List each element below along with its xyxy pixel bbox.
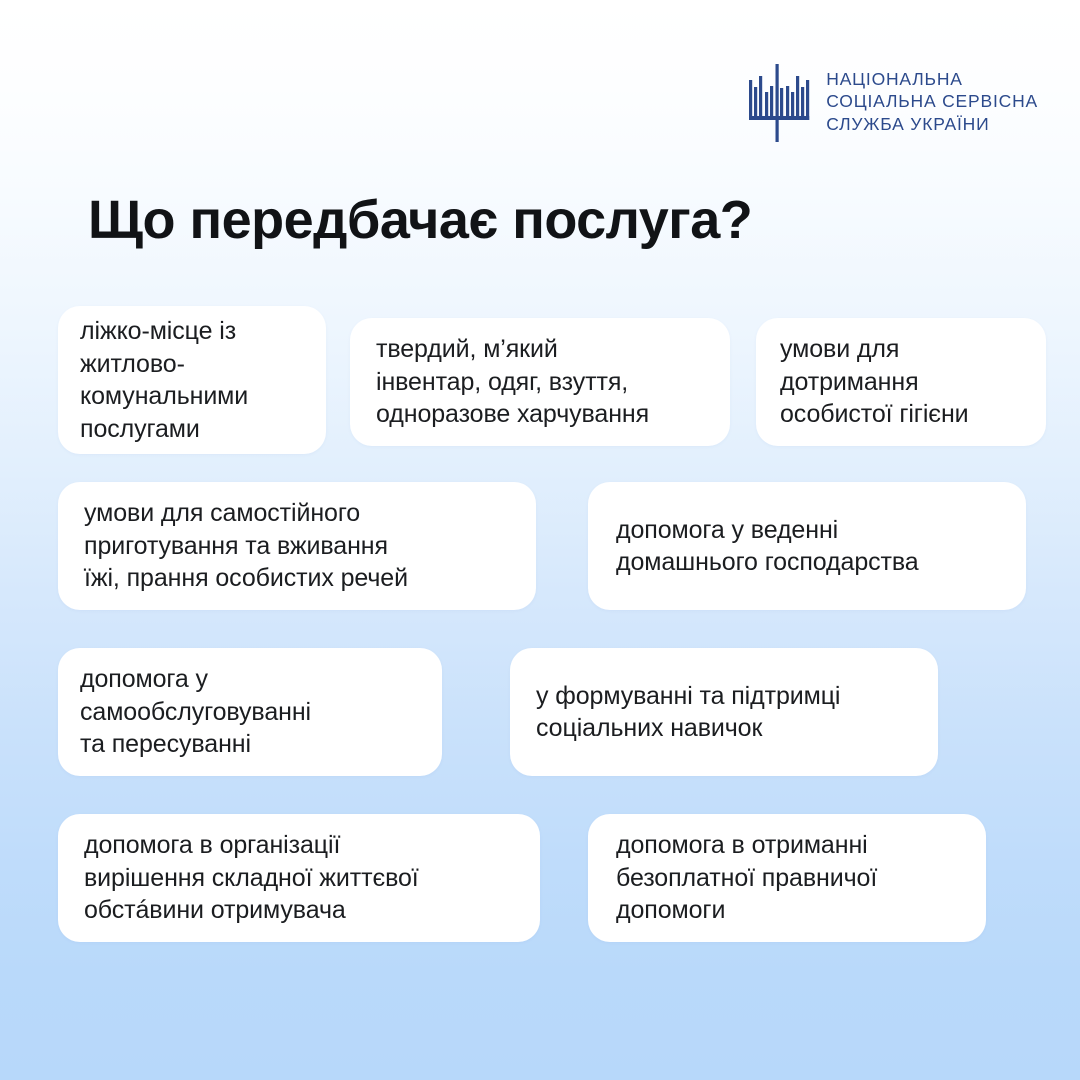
- service-card-free-legal-aid: допомога в отриманні безоплатної правнич…: [588, 814, 986, 942]
- service-card-household-management: допомога у веденні домашнього господарст…: [588, 482, 1026, 610]
- service-card-bed-place: ліжко-місце із житлово- комунальними пос…: [58, 306, 326, 454]
- service-card-cooking-and-laundry: умови для самостійного приготування та в…: [58, 482, 536, 610]
- infographic-page: НАЦІОНАЛЬНА СОЦІАЛЬНА СЕРВІСНА СЛУЖБА УК…: [0, 0, 1080, 1080]
- service-card-text: допомога у самообслуговуванні та пересув…: [58, 663, 442, 761]
- service-card-text: допомога в отриманні безоплатної правнич…: [588, 829, 986, 927]
- service-card-text: умови для самостійного приготування та в…: [58, 497, 536, 595]
- service-card-personal-hygiene: умови для дотримання особистої гігієни: [756, 318, 1046, 446]
- cards-container: ліжко-місце із житлово- комунальними пос…: [0, 0, 1080, 1080]
- service-card-self-care-and-mobility: допомога у самообслуговуванні та пересув…: [58, 648, 442, 776]
- service-card-text: допомога у веденні домашнього господарст…: [588, 514, 1026, 579]
- service-card-inventory-clothing-meals: твердий, м’який інвентар, одяг, взуття, …: [350, 318, 730, 446]
- service-card-difficult-life-circumstances: допомога в організації вирішення складно…: [58, 814, 540, 942]
- service-card-text: ліжко-місце із житлово- комунальними пос…: [58, 315, 326, 445]
- service-card-text: умови для дотримання особистої гігієни: [756, 333, 1046, 431]
- service-card-social-skills: у формуванні та підтримці соціальних нав…: [510, 648, 938, 776]
- service-card-text: у формуванні та підтримці соціальних нав…: [510, 680, 938, 745]
- service-card-text: допомога в організації вирішення складно…: [58, 829, 540, 927]
- service-card-text: твердий, м’який інвентар, одяг, взуття, …: [350, 333, 730, 431]
